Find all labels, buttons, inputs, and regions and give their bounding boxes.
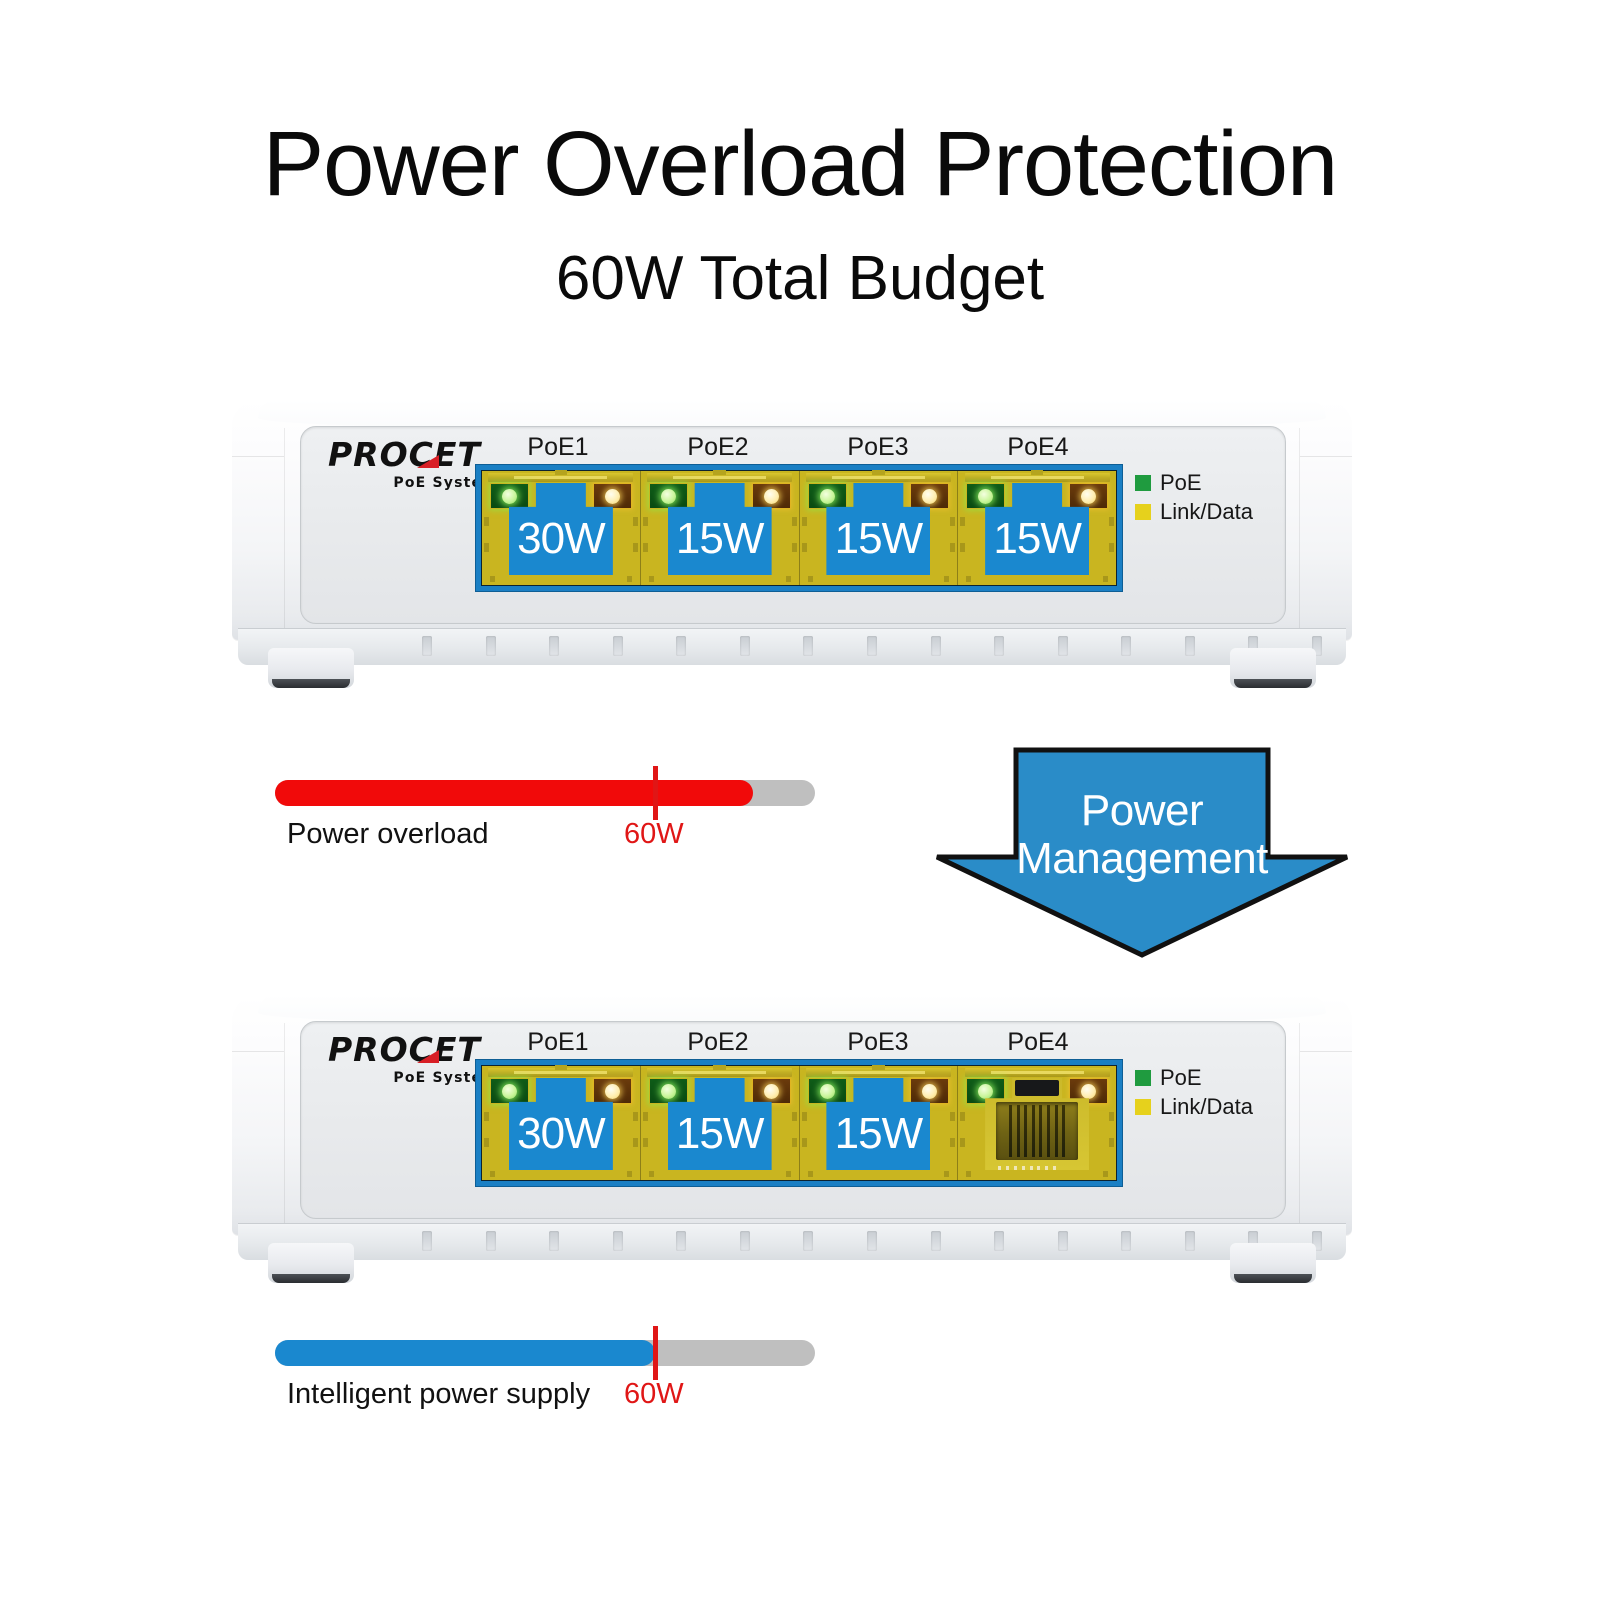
- device-foot-left: [268, 648, 354, 688]
- port-clip-icon: [713, 1065, 726, 1070]
- port-poe1[interactable]: 30W: [482, 471, 640, 585]
- power-bar-labels: Intelligent power supply 60W: [275, 1380, 835, 1420]
- procet-logo: PROCET PoE System: [328, 1033, 498, 1085]
- port-power-value: 15W: [826, 1112, 930, 1156]
- port-poe4[interactable]: 15W: [957, 471, 1116, 585]
- poe-switch-managed: PROCET PoE System PoE1 PoE2 PoE3 PoE4 30…: [232, 995, 1352, 1285]
- budget-marker-60w: [653, 1326, 658, 1380]
- port-poe3[interactable]: 15W: [799, 471, 958, 585]
- power-bar-track[interactable]: [275, 1340, 815, 1366]
- shell-seam-right: [1299, 1023, 1300, 1228]
- port-label-2: PoE2: [638, 1028, 798, 1058]
- port-clip-icon: [555, 470, 568, 475]
- port-poe2[interactable]: 15W: [640, 471, 799, 585]
- device-foot-right: [1230, 648, 1316, 688]
- port-label-4: PoE4: [958, 1028, 1118, 1058]
- link-led-amber-icon: [910, 483, 949, 509]
- arrow-down-icon: [932, 745, 1352, 960]
- page-subtitle: 60W Total Budget: [0, 248, 1600, 310]
- device-foot-left: [268, 1243, 354, 1283]
- poe-led-green-icon: [649, 1078, 688, 1104]
- poe-led-green-icon: [490, 1078, 529, 1104]
- port-poe3[interactable]: 15W: [799, 1066, 958, 1180]
- port-poe4[interactable]: [957, 1066, 1116, 1180]
- power-bar-name: Intelligent power supply: [287, 1380, 590, 1409]
- poe-led-green-icon: [808, 483, 847, 509]
- port-power-value: 15W: [985, 517, 1089, 561]
- port-clip-icon: [713, 470, 726, 475]
- port-label-4: PoE4: [958, 433, 1118, 463]
- port-clip-icon: [872, 470, 885, 475]
- poe-switch-overload: PROCET PoE System PoE1 PoE2 PoE3 PoE4 30…: [232, 400, 1352, 690]
- port-label-row: PoE1 PoE2 PoE3 PoE4: [478, 1028, 1118, 1058]
- legend-swatch-poe-icon: [1135, 1070, 1151, 1086]
- port-label-3: PoE3: [798, 1028, 958, 1058]
- link-led-amber-icon: [1069, 483, 1108, 509]
- logo-tagline: PoE System: [328, 475, 498, 491]
- shell-seam-left-top: [232, 456, 284, 457]
- shell-seam-left: [284, 1023, 285, 1228]
- legend-label-linkdata: Link/Data: [1160, 501, 1253, 523]
- port-block-inner: 30W 15W: [481, 1065, 1117, 1181]
- port-clip-icon: [1031, 470, 1044, 475]
- port-poe1[interactable]: 30W: [482, 1066, 640, 1180]
- shell-seam-right-top: [1300, 456, 1352, 457]
- port-power-value: 15W: [826, 517, 930, 561]
- port-power-value: 30W: [509, 1112, 613, 1156]
- power-bar-track[interactable]: [275, 780, 815, 806]
- power-bar-fill-intelligent: [275, 1340, 655, 1366]
- budget-marker-60w: [653, 766, 658, 820]
- port-bezel-top: [965, 1068, 1110, 1077]
- port-clip-icon: [872, 1065, 885, 1070]
- poe-led-green-icon: [490, 483, 529, 509]
- shell-seam-right: [1299, 428, 1300, 633]
- legend-label-linkdata: Link/Data: [1160, 1096, 1253, 1118]
- logo-wordmark: PROCET: [328, 1033, 498, 1066]
- port-power-value: 15W: [668, 517, 772, 561]
- ventilation-slots: [422, 1231, 1322, 1253]
- led-legend: PoE Link/Data: [1135, 472, 1255, 530]
- poe-led-green-icon: [649, 483, 688, 509]
- logo-tagline: PoE System: [328, 1070, 498, 1086]
- poe-led-green-icon: [808, 1078, 847, 1104]
- rj45-contact-pins: [1009, 1105, 1065, 1157]
- legend-row-poe: PoE: [1135, 1067, 1255, 1089]
- port-block-inner: 30W 15W: [481, 470, 1117, 586]
- rj45-cavity: [996, 1102, 1078, 1160]
- port-block: 30W 15W: [475, 464, 1123, 592]
- legend-swatch-linkdata-icon: [1135, 1099, 1151, 1115]
- logo-wordmark: PROCET: [328, 438, 498, 471]
- poe-led-green-icon: [966, 483, 1005, 509]
- shell-seam-left: [284, 428, 285, 633]
- port-label-row: PoE1 PoE2 PoE3 PoE4: [478, 433, 1118, 463]
- led-legend: PoE Link/Data: [1135, 1067, 1255, 1125]
- power-bar-name: Power overload: [287, 820, 489, 849]
- power-overload-bar-group: Power overload 60W: [275, 780, 835, 860]
- legend-label-poe: PoE: [1160, 1067, 1202, 1089]
- legend-swatch-poe-icon: [1135, 475, 1151, 491]
- port-block: 30W 15W: [475, 1059, 1123, 1187]
- port-label-2: PoE2: [638, 433, 798, 463]
- power-management-arrow: Power Management: [932, 745, 1352, 960]
- power-bar-budget-value: 60W: [624, 1380, 684, 1409]
- link-led-amber-icon: [593, 483, 632, 509]
- power-bar-labels: Power overload 60W: [275, 820, 835, 860]
- port-label-1: PoE1: [478, 433, 638, 463]
- port-label-3: PoE3: [798, 433, 958, 463]
- ventilation-slots: [422, 636, 1322, 658]
- port-power-value: 30W: [509, 517, 613, 561]
- page-title: Power Overload Protection: [0, 118, 1600, 210]
- power-bar-budget-value: 60W: [624, 820, 684, 849]
- port-poe2[interactable]: 15W: [640, 1066, 799, 1180]
- rj45-latch-slot: [1015, 1080, 1059, 1096]
- legend-label-poe: PoE: [1160, 472, 1202, 494]
- shell-seam-right-top: [1300, 1051, 1352, 1052]
- legend-row-poe: PoE: [1135, 472, 1255, 494]
- rj45-pin-tips: [998, 1166, 1056, 1171]
- legend-row-linkdata: Link/Data: [1135, 501, 1255, 523]
- legend-swatch-linkdata-icon: [1135, 504, 1151, 520]
- link-led-amber-icon: [910, 1078, 949, 1104]
- intelligent-power-bar-group: Intelligent power supply 60W: [275, 1340, 835, 1420]
- port-label-1: PoE1: [478, 1028, 638, 1058]
- port-clip-icon: [555, 1065, 568, 1070]
- legend-row-linkdata: Link/Data: [1135, 1096, 1255, 1118]
- port-power-value: 15W: [668, 1112, 772, 1156]
- link-led-amber-icon: [752, 1078, 791, 1104]
- procet-logo: PROCET PoE System: [328, 438, 498, 490]
- link-led-amber-icon: [593, 1078, 632, 1104]
- device-foot-right: [1230, 1243, 1316, 1283]
- power-bar-fill-overload: [275, 780, 753, 806]
- link-led-amber-icon: [752, 483, 791, 509]
- shell-seam-left-top: [232, 1051, 284, 1052]
